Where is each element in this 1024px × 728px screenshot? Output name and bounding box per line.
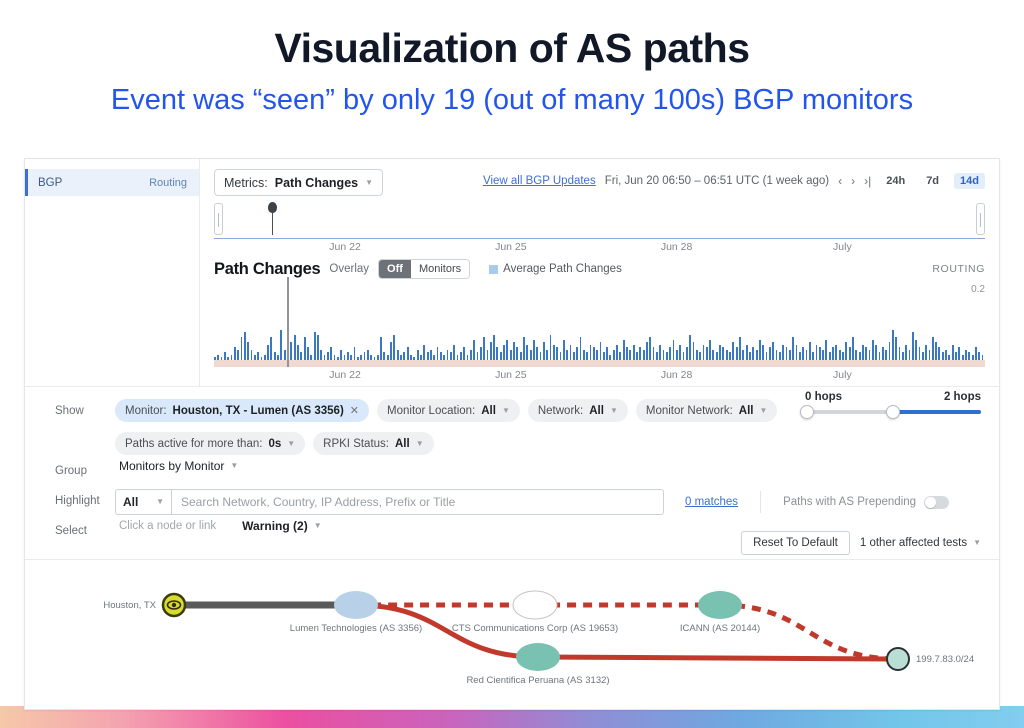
chart-bar: [244, 332, 246, 360]
chart-bar: [407, 347, 409, 360]
chart-bar: [629, 350, 631, 360]
chart-bar: [799, 352, 801, 360]
page-title: Visualization of AS paths: [0, 0, 1024, 71]
chart-bar: [390, 342, 392, 360]
chart-bar: [782, 345, 784, 360]
chart-bar: [766, 352, 768, 360]
latest-period-button[interactable]: ›|: [864, 174, 871, 188]
chart-bar: [433, 355, 435, 360]
divider-vertical: [760, 491, 761, 513]
chevron-down-icon: ▼: [365, 179, 373, 187]
chart-bar: [540, 352, 542, 360]
chart-bar: [719, 345, 721, 360]
chart-bar: [935, 342, 937, 360]
chip-network[interactable]: Network: All ▼: [528, 399, 628, 422]
chart-bar: [490, 342, 492, 360]
chart-bar: [460, 352, 462, 360]
chart-event-marker: [287, 277, 289, 367]
chart-bar: [752, 347, 754, 360]
chevron-down-icon: ▼: [610, 407, 618, 415]
chart-bar: [606, 347, 608, 360]
chart-bar: [875, 345, 877, 360]
chart-bar: [693, 342, 695, 360]
chart-bar: [580, 337, 582, 360]
chevron-down-icon: ▼: [314, 522, 322, 530]
chart-bar: [623, 340, 625, 360]
chart-bar: [882, 347, 884, 360]
chart-bar: [872, 340, 874, 360]
chart-header-controls: View all BGP Updates Fri, Jun 20 06:50 –…: [483, 173, 985, 189]
chart-bar: [247, 342, 249, 360]
chart-bar: [839, 350, 841, 360]
chart-bar: [437, 347, 439, 360]
chart-bar: [217, 355, 219, 360]
chart-bar: [899, 347, 901, 360]
chart-bar: [603, 352, 605, 360]
chart-bar: [885, 350, 887, 360]
time-range-label: Fri, Jun 20 06:50 – 06:51 UTC (1 week ag…: [605, 175, 829, 187]
chart-bar: [280, 330, 282, 361]
chart-bar: [855, 350, 857, 360]
chart-bar: [789, 350, 791, 360]
chip-monitor-network-prefix: Monitor Network:: [646, 405, 733, 417]
topology-node-rcp[interactable]: [516, 643, 560, 671]
sidebar-item-bgp[interactable]: BGP Routing: [25, 169, 199, 196]
chart-bar: [317, 335, 319, 360]
as-prepending-label: Paths with AS Prepending: [783, 496, 916, 508]
chart-bar: [829, 352, 831, 360]
highlight-label: Highlight: [25, 489, 115, 507]
chart-bar: [832, 347, 834, 360]
chart-bar: [344, 355, 346, 360]
chart-bar: [214, 357, 216, 360]
chart-bar: [749, 352, 751, 360]
topology-node-dest[interactable]: [887, 648, 909, 670]
chart-bar: [703, 345, 705, 360]
filters-section: 0 hops 2 hops Show Monitor: Houston, TX …: [25, 387, 999, 559]
chart-bar: [673, 340, 675, 360]
chart-bar: [915, 340, 917, 360]
chip-monitor-network[interactable]: Monitor Network: All ▼: [636, 399, 778, 422]
chart-bar: [290, 342, 292, 360]
chart-bar: [320, 350, 322, 360]
chart-bar: [520, 352, 522, 360]
chart-bar: [477, 352, 479, 360]
brush-handle-right[interactable]: [976, 203, 985, 235]
chart-bar: [586, 352, 588, 360]
chart-bar: [413, 357, 415, 360]
y-axis-value-label: 0.2: [971, 284, 985, 295]
other-affected-tests-label: 1 other affected tests: [860, 537, 967, 549]
metrics-dropdown[interactable]: Metrics: Path Changes ▼: [214, 169, 383, 196]
chart-bar: [816, 345, 818, 360]
chart-bar: [643, 350, 645, 360]
chart-tick-0: Jun 22: [329, 369, 361, 381]
chart-bar: [360, 355, 362, 360]
chart-bar: [762, 345, 764, 360]
chart-bar: [593, 347, 595, 360]
chart-baseline-band: [214, 360, 985, 367]
chart-bar: [683, 352, 685, 360]
chart-bar: [563, 340, 565, 360]
topology-svg: [25, 560, 1000, 710]
chart-bar: [480, 347, 482, 360]
page-subtitle: Event was “seen” by only 19 (out of many…: [0, 85, 1024, 117]
chart-bar: [450, 352, 452, 360]
chip-paths-active-value: 0s: [268, 438, 281, 450]
chart-bar: [443, 355, 445, 360]
chart-bar: [679, 345, 681, 360]
other-affected-tests-dropdown[interactable]: 1 other affected tests ▼: [860, 537, 981, 549]
as-prepending-control[interactable]: Paths with AS Prepending: [783, 496, 949, 509]
path-changes-bar-chart[interactable]: [214, 299, 985, 367]
chart-bar: [427, 352, 429, 360]
chart-bar: [656, 352, 658, 360]
chart-bar: [862, 345, 864, 360]
chart-bar: [227, 357, 229, 360]
topology-node-cts[interactable]: [513, 591, 557, 619]
chart-bar: [516, 347, 518, 360]
chart-bar: [905, 345, 907, 360]
chart-bar: [314, 332, 316, 360]
chip-monitor-prefix: Monitor:: [125, 405, 167, 417]
chart-bar: [440, 352, 442, 360]
topology-node-label: ICANN (AS 20144): [680, 623, 760, 634]
warning-dropdown-value: Warning (2): [242, 519, 308, 533]
chart-bar: [889, 342, 891, 360]
chart-bar: [430, 350, 432, 360]
chart-bar: [925, 345, 927, 360]
chart-bar: [929, 350, 931, 360]
sidebar-item-label: BGP: [38, 177, 62, 189]
chart-bar: [294, 335, 296, 360]
group-row: Group Monitors by Monitor ▼: [25, 459, 999, 485]
chart-bar: [769, 347, 771, 360]
chart-bar: [423, 345, 425, 360]
top-row: BGP Routing Metrics: Path Changes ▼ View…: [25, 159, 999, 386]
show-label: Show: [25, 399, 115, 417]
topology-node-label: Houston, TX: [103, 600, 156, 611]
range-14d-button[interactable]: 14d: [954, 173, 985, 189]
chart-bar: [948, 355, 950, 360]
chart-bar: [576, 347, 578, 360]
hops-slider-knob-min[interactable]: [800, 405, 814, 419]
chart-bar: [447, 350, 449, 360]
chart-bar: [968, 352, 970, 360]
chart-bar: [726, 350, 728, 360]
chart-bar: [237, 350, 239, 360]
overlay-option-off[interactable]: Off: [379, 260, 411, 278]
chart-bar: [919, 347, 921, 360]
chart-bar: [666, 352, 668, 360]
timeline-brush[interactable]: [214, 203, 985, 239]
search-input[interactable]: [171, 489, 664, 515]
chip-rpki-value: All: [395, 438, 410, 450]
chart-bar: [649, 337, 651, 360]
chart-bar: [739, 337, 741, 360]
chart-bar: [842, 352, 844, 360]
chart-bar: [457, 355, 459, 360]
chart-bar: [310, 355, 312, 360]
chart-bar: [304, 337, 306, 360]
chevron-down-icon: ▼: [502, 407, 510, 415]
chart-legend: Average Path Changes: [489, 263, 622, 275]
chart-bar: [653, 347, 655, 360]
brush-handle-left[interactable]: [214, 203, 223, 235]
chart-bar: [420, 355, 422, 360]
routing-section-label: ROUTING: [932, 263, 985, 275]
overlay-toggle-group[interactable]: Off Monitors: [378, 259, 470, 279]
chip-monitor-location-value: All: [481, 405, 496, 417]
chevron-down-icon: ▼: [287, 440, 295, 448]
chart-bar: [261, 357, 263, 360]
as-path-topology-graph[interactable]: Houston, TXLumen Technologies (AS 3356)C…: [25, 560, 999, 710]
chip-rpki-status[interactable]: RPKI Status: All ▼: [313, 432, 433, 455]
group-label: Group: [25, 459, 115, 477]
hops-slider-knob-max[interactable]: [886, 405, 900, 419]
topology-node-label: Red Cientifica Peruana (AS 3132): [466, 675, 609, 686]
chart-bar: [500, 352, 502, 360]
chip-paths-active-prefix: Paths active for more than:: [125, 438, 262, 450]
hops-range-slider[interactable]: 0 hops 2 hops: [805, 391, 981, 414]
chart-bar: [633, 345, 635, 360]
topology-node-monitor[interactable]: [163, 594, 185, 616]
chart-bar: [503, 345, 505, 360]
chip-network-prefix: Network:: [538, 405, 583, 417]
chip-monitor-location-prefix: Monitor Location:: [387, 405, 475, 417]
chip-monitor-location[interactable]: Monitor Location: All ▼: [377, 399, 520, 422]
brush-tick-2: Jun 28: [661, 241, 693, 253]
chart-bar: [619, 352, 621, 360]
chart-bar: [796, 345, 798, 360]
chart-bar: [297, 345, 299, 360]
chart-bar: [566, 350, 568, 360]
highlight-row: Highlight All ▼ 0 matches Paths with AS …: [25, 489, 999, 515]
prev-period-button[interactable]: ‹: [838, 174, 842, 188]
chart-bar: [945, 350, 947, 360]
chart-bar: [393, 335, 395, 360]
hops-min-label: 0 hops: [805, 391, 842, 403]
chart-tick-labels: Jun 22 Jun 25 Jun 28 July: [214, 369, 985, 383]
chart-bar: [417, 350, 419, 360]
chart-bar: [523, 337, 525, 360]
chart-bar: [590, 345, 592, 360]
chart-bar: [533, 340, 535, 360]
chart-bar: [663, 350, 665, 360]
chart-tick-2: Jun 28: [661, 369, 693, 381]
sidebar: BGP Routing: [25, 159, 200, 386]
chart-bar: [879, 352, 881, 360]
chart-bar: [596, 350, 598, 360]
chart-bar: [812, 352, 814, 360]
chart-bar: [802, 347, 804, 360]
chart-bar: [573, 352, 575, 360]
chart-bar: [869, 350, 871, 360]
chart-bar: [473, 340, 475, 360]
chart-bar: [400, 355, 402, 360]
range-24h-button[interactable]: 24h: [880, 173, 911, 189]
next-period-button[interactable]: ›: [851, 174, 855, 188]
chart-bar: [383, 352, 385, 360]
highlight-scope-dropdown[interactable]: All ▼: [115, 489, 171, 515]
chip-paths-active[interactable]: Paths active for more than: 0s ▼: [115, 432, 305, 455]
chart-bar: [975, 347, 977, 360]
chart-bar: [300, 352, 302, 360]
chart-bar: [825, 340, 827, 360]
chart-bar: [972, 355, 974, 360]
as-prepending-toggle[interactable]: [924, 496, 949, 509]
chart-bar: [912, 332, 914, 360]
chart-bar: [965, 350, 967, 360]
group-by-dropdown[interactable]: Monitors by Monitor ▼: [115, 459, 238, 473]
chart-bar: [334, 355, 336, 360]
chip-monitor[interactable]: Monitor: Houston, TX - Lumen (AS 3356) ✕: [115, 399, 369, 422]
overlay-label: Overlay: [329, 263, 369, 275]
chart-bar: [374, 357, 376, 360]
chart-bar: [736, 347, 738, 360]
chart-bar: [676, 350, 678, 360]
warning-dropdown[interactable]: Warning (2) ▼: [238, 519, 321, 533]
topology-node-lumen[interactable]: [334, 591, 378, 619]
brush-tick-labels: Jun 22 Jun 25 Jun 28 July: [214, 241, 985, 255]
chart-bar: [493, 335, 495, 360]
chart-bar: [583, 350, 585, 360]
chart-bar: [284, 350, 286, 360]
chart-bar: [616, 345, 618, 360]
hops-max-label: 2 hops: [944, 391, 981, 403]
highlight-scope-value: All: [123, 495, 138, 509]
chart-bar: [792, 337, 794, 360]
chart-bar: [354, 347, 356, 360]
view-all-bgp-updates-link[interactable]: View all BGP Updates: [483, 175, 596, 187]
chart-bar: [938, 347, 940, 360]
chart-bar: [822, 350, 824, 360]
chart-bar: [756, 350, 758, 360]
chart-bar: [254, 355, 256, 360]
chart-panel: Metrics: Path Changes ▼ View all BGP Upd…: [200, 159, 999, 386]
chart-bar: [327, 352, 329, 360]
select-label: Select: [25, 519, 115, 537]
chart-bar: [506, 340, 508, 360]
chart-bar: [809, 342, 811, 360]
chart-bar: [772, 342, 774, 360]
hops-slider-fill: [893, 410, 981, 414]
bgp-app-window: BGP Routing Metrics: Path Changes ▼ View…: [24, 158, 1000, 710]
chart-bar: [806, 350, 808, 360]
chevron-down-icon: ▼: [230, 462, 238, 470]
chart-bar: [370, 355, 372, 360]
topology-node-label: 199.7.83.0/24: [916, 654, 974, 665]
chart-bar: [639, 347, 641, 360]
chart-bar: [942, 352, 944, 360]
chart-bar: [819, 347, 821, 360]
chart-bar: [955, 352, 957, 360]
path-changes-header: Path Changes Overlay Off Monitors Averag…: [214, 259, 985, 279]
chart-bar: [267, 345, 269, 360]
chart-bar: [277, 355, 279, 360]
chart-bar: [467, 355, 469, 360]
chart-bar: [669, 347, 671, 360]
chart-bar: [241, 337, 243, 360]
matches-link[interactable]: 0 matches: [685, 496, 738, 508]
chart-bar: [387, 355, 389, 360]
brush-axis: [214, 238, 985, 239]
chart-bar: [722, 347, 724, 360]
chevron-down-icon: ▼: [156, 498, 164, 506]
chart-bar: [646, 342, 648, 360]
chart-bar: [636, 352, 638, 360]
metrics-value-label: Path Changes: [275, 176, 358, 190]
chart-bar: [364, 352, 366, 360]
chart-bar: [706, 347, 708, 360]
chart-bar: [380, 337, 382, 360]
chip-monitor-value: Houston, TX - Lumen (AS 3356): [173, 405, 344, 417]
chart-bar: [340, 350, 342, 360]
chart-bar: [307, 347, 309, 360]
chart-bar: [337, 357, 339, 360]
chart-bar: [689, 335, 691, 360]
chart-bar: [570, 345, 572, 360]
topology-node-icann[interactable]: [698, 591, 742, 619]
chart-tick-3: July: [833, 369, 852, 381]
chart-bar: [696, 350, 698, 360]
close-icon[interactable]: ✕: [350, 404, 359, 417]
reset-to-default-button[interactable]: Reset To Default: [741, 531, 850, 555]
chart-bar: [350, 355, 352, 360]
chart-bar: [759, 340, 761, 360]
chart-bar: [613, 350, 615, 360]
chart-bar: [895, 337, 897, 360]
sidebar-item-tag: Routing: [149, 177, 187, 189]
chart-bar: [270, 337, 272, 360]
chart-bar: [526, 345, 528, 360]
overlay-option-monitors[interactable]: Monitors: [411, 260, 469, 278]
chart-bar: [699, 352, 701, 360]
chart-bar: [470, 350, 472, 360]
chart-bar: [510, 350, 512, 360]
chart-bar: [274, 352, 276, 360]
chart-bar: [224, 352, 226, 360]
chip-network-value: All: [589, 405, 604, 417]
path-changes-title: Path Changes: [214, 260, 320, 279]
chart-bar: [397, 350, 399, 360]
chart-bar: [556, 347, 558, 360]
chart-bar: [513, 342, 515, 360]
chart-bar: [231, 355, 233, 360]
chart-bar: [560, 352, 562, 360]
chart-bar: [324, 355, 326, 360]
chart-bar: [264, 355, 266, 360]
chart-bar: [716, 352, 718, 360]
chart-bar: [852, 337, 854, 360]
chart-bar: [367, 350, 369, 360]
range-7d-button[interactable]: 7d: [920, 173, 945, 189]
chart-tick-1: Jun 25: [495, 369, 527, 381]
chart-bar: [347, 352, 349, 360]
chart-bar: [962, 355, 964, 360]
chart-bar: [251, 350, 253, 360]
chart-bar: [742, 350, 744, 360]
chart-bar: [732, 342, 734, 360]
brush-tick-1: Jun 25: [495, 241, 527, 253]
chip-monitor-network-value: All: [739, 405, 754, 417]
chart-bar: [865, 347, 867, 360]
metrics-prefix-label: Metrics:: [224, 176, 268, 190]
select-hint: Click a node or link: [115, 520, 216, 532]
group-by-value: Monitors by Monitor: [119, 459, 224, 473]
topology-link[interactable]: [538, 657, 898, 659]
hops-slider-track[interactable]: [805, 410, 981, 414]
